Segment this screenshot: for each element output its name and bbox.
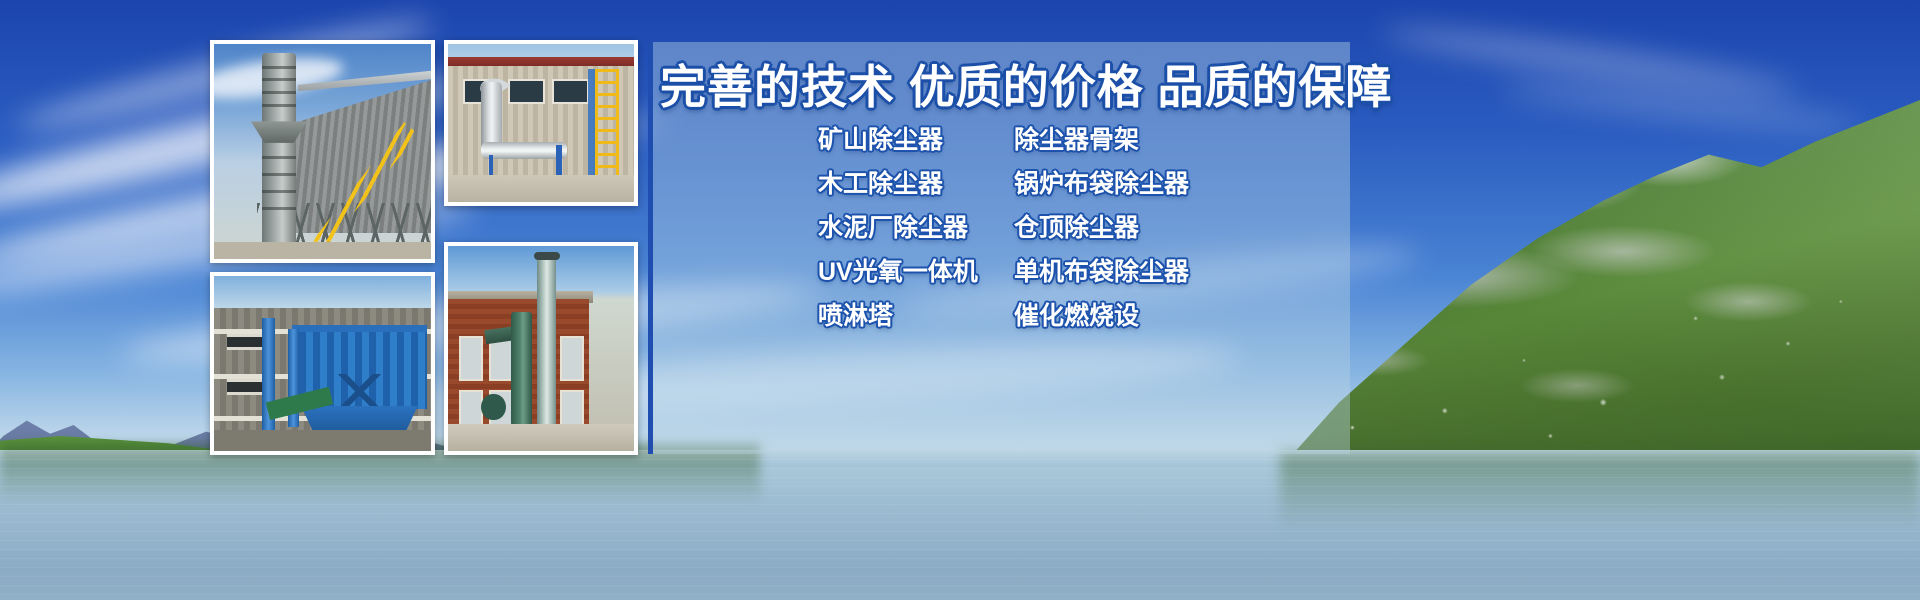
product-name-right: 锅炉布袋除尘器 xyxy=(1014,172,1189,197)
list-item[interactable]: 喷淋塔 催化燃烧设 xyxy=(818,304,1338,329)
list-item[interactable]: 木工除尘器 锅炉布袋除尘器 xyxy=(818,172,1338,197)
product-name-right: 单机布袋除尘器 xyxy=(1014,260,1189,285)
product-name-left: 喷淋塔 xyxy=(818,304,1014,329)
list-item[interactable]: 矿山除尘器 除尘器骨架 xyxy=(818,128,1338,153)
promo-banner: 完善的技术 优质的价格 品质的保障 矿山除尘器 除尘器骨架 木工除尘器 锅炉布袋… xyxy=(0,0,1920,600)
photo-workshop-ductwork[interactable] xyxy=(444,40,638,206)
photo-baghouse-dust-collector[interactable] xyxy=(210,40,435,263)
page-title: 完善的技术 优质的价格 品质的保障 xyxy=(660,62,1350,113)
list-item[interactable]: 水泥厂除尘器 仓顶除尘器 xyxy=(818,216,1338,241)
lake-water xyxy=(0,450,1920,600)
product-name-left: 矿山除尘器 xyxy=(818,128,1014,153)
product-name-left: 木工除尘器 xyxy=(818,172,1014,197)
product-name-left: UV光氧一体机 xyxy=(818,260,1014,285)
list-item[interactable]: UV光氧一体机 单机布袋除尘器 xyxy=(818,260,1338,285)
photo-blue-dust-collector[interactable] xyxy=(210,272,435,455)
product-name-right: 仓顶除尘器 xyxy=(1014,216,1139,241)
product-list: 矿山除尘器 除尘器骨架 木工除尘器 锅炉布袋除尘器 水泥厂除尘器 仓顶除尘器 U… xyxy=(818,128,1338,348)
photo-brick-plant-stack[interactable] xyxy=(444,242,638,455)
product-name-right: 催化燃烧设 xyxy=(1014,304,1139,329)
product-name-left: 水泥厂除尘器 xyxy=(818,216,1014,241)
product-name-right: 除尘器骨架 xyxy=(1014,128,1139,153)
